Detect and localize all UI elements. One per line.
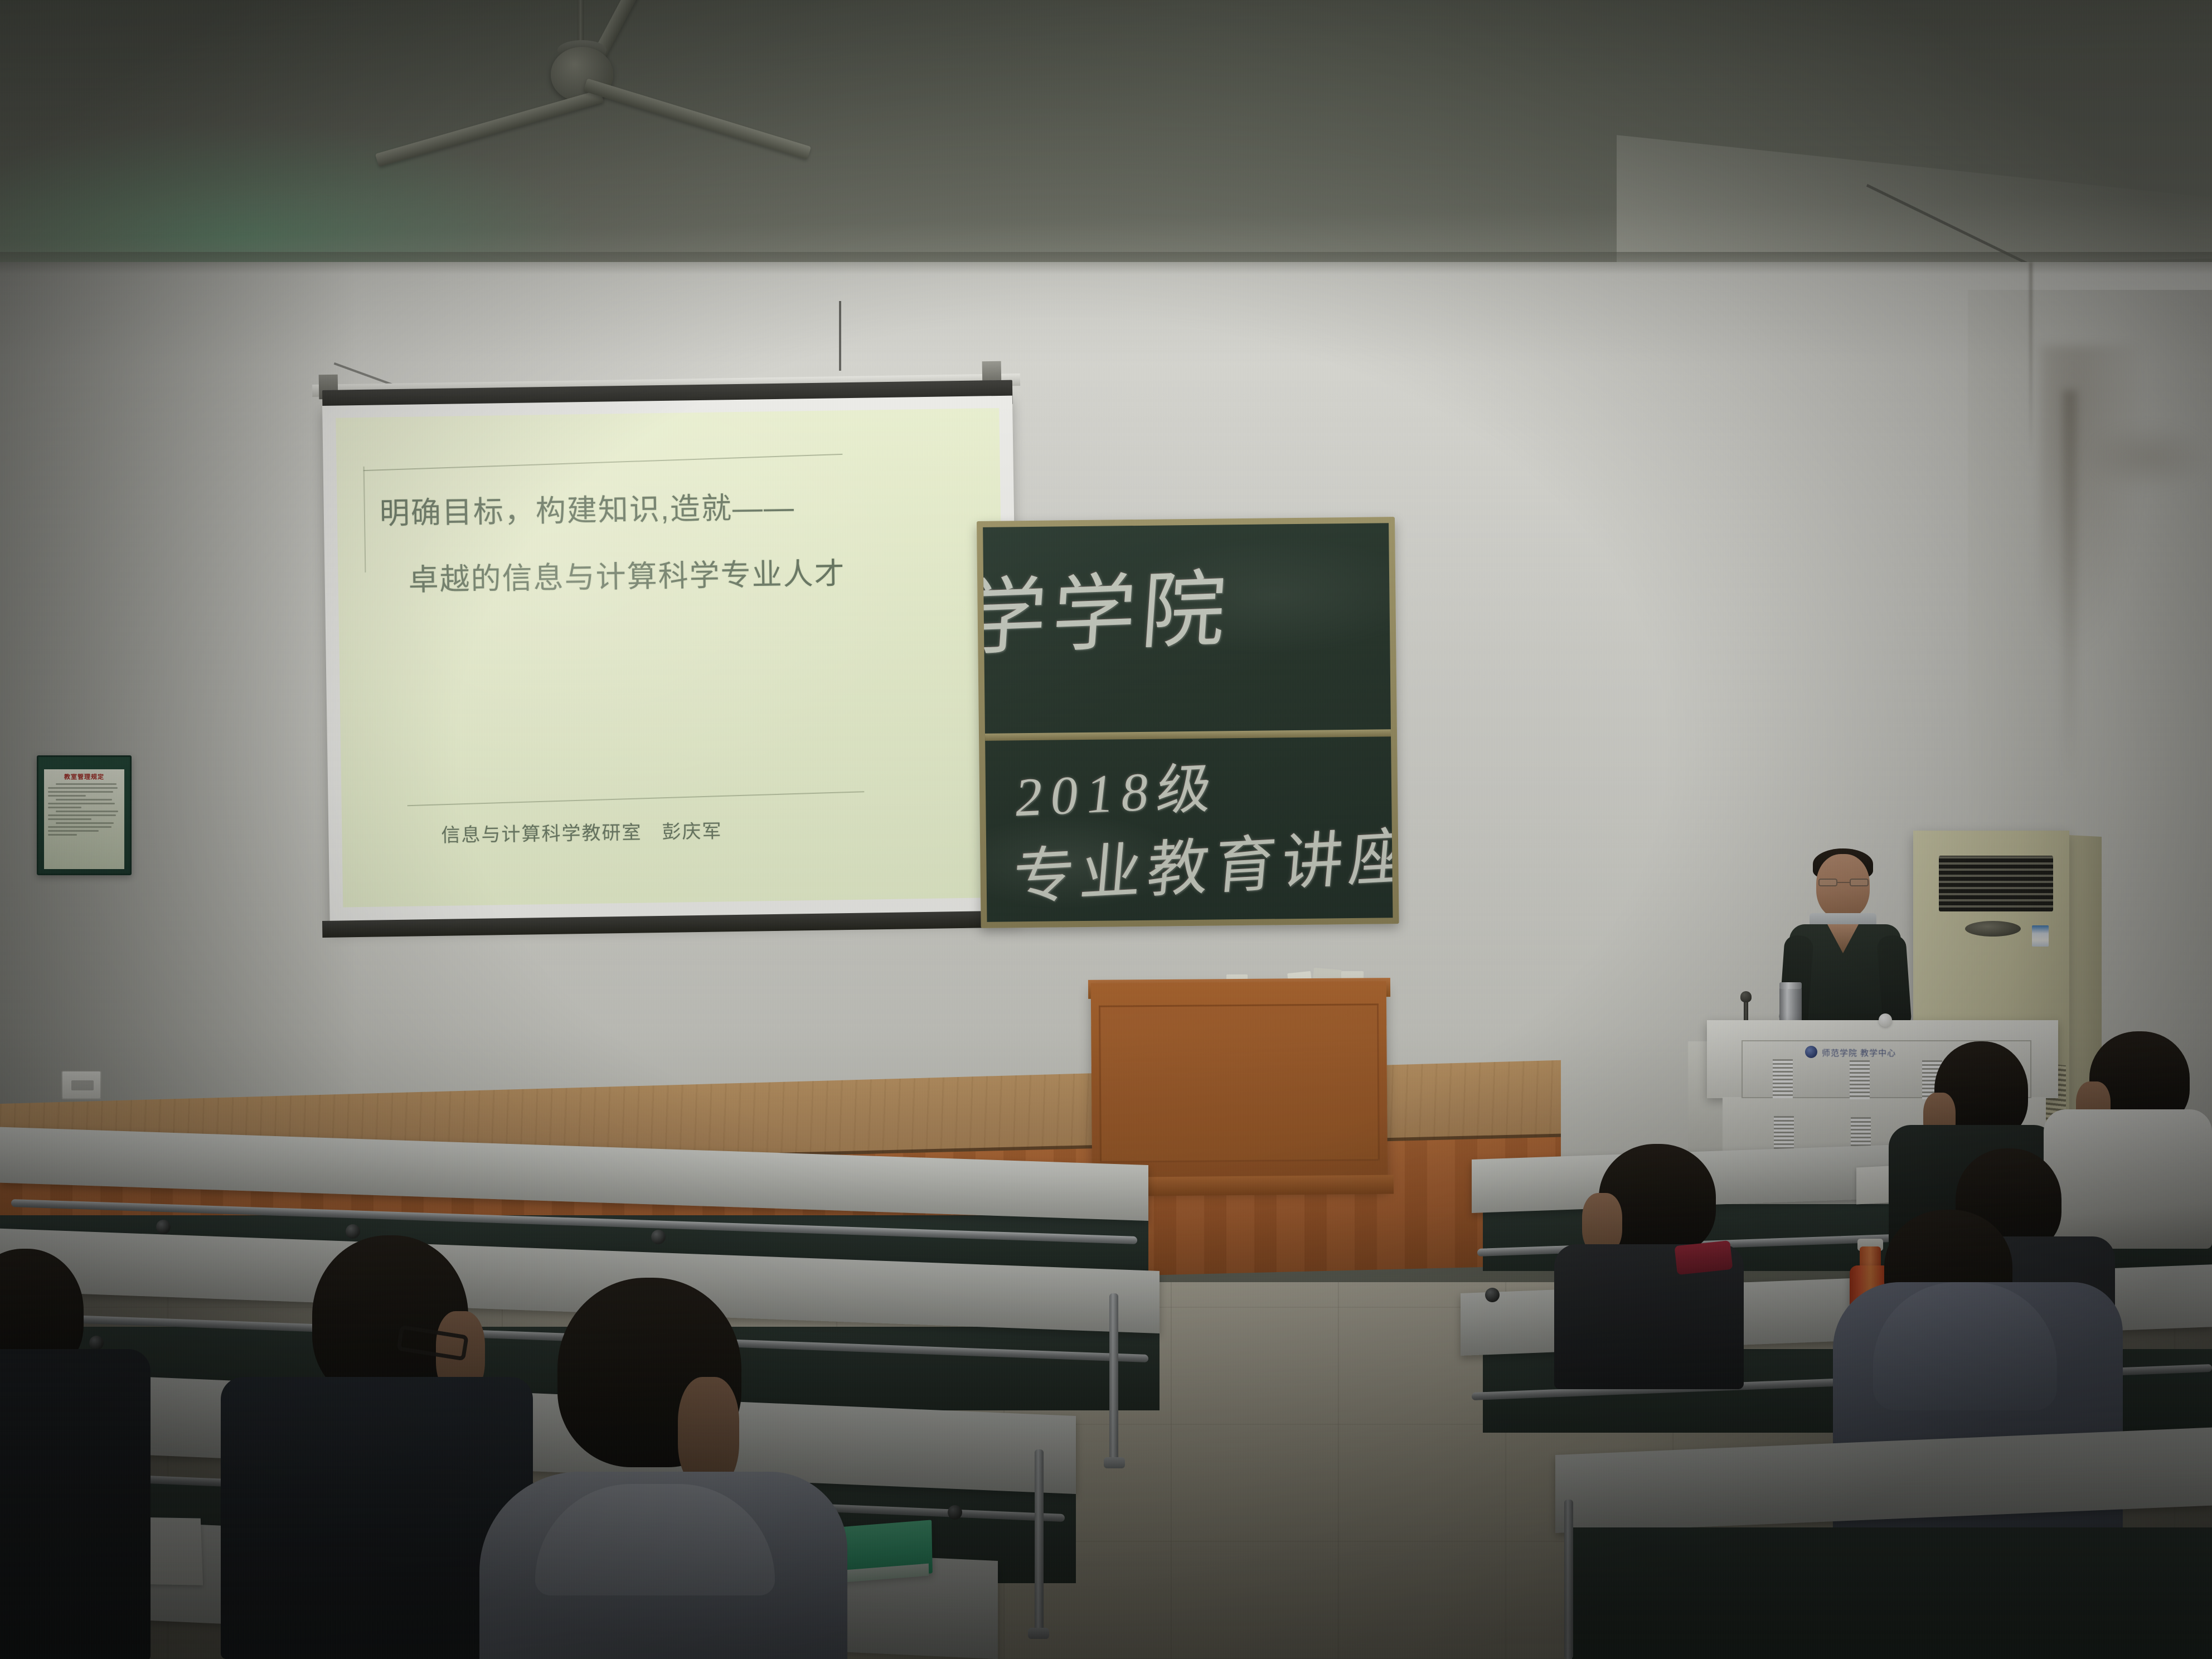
wall-stain [2063, 390, 2077, 780]
notice-body [48, 783, 120, 836]
student-torso-white [2044, 1109, 2212, 1249]
console-vent [1773, 1059, 1793, 1098]
desk-leg [1564, 1500, 1573, 1659]
blackboard-lower-panel: 2018级 专业教育讲座 [985, 736, 1393, 922]
thermos-cap [1779, 982, 1802, 989]
classroom-photo: 教室管理规定 明确目标，构建知识,造就—— 卓越的信息与计算科学专业人才 信息与… [0, 0, 2212, 1659]
blackboard: 学学院 2018级 专业教育讲座 [977, 517, 1399, 928]
air-conditioner-sticker [2032, 925, 2049, 947]
university-logo-icon [1805, 1046, 1817, 1058]
desk-hook [651, 1230, 666, 1244]
slide-rule [363, 467, 366, 573]
glasses-lens-left [1818, 879, 1837, 886]
slide-rule [363, 454, 843, 471]
screen-wire [839, 301, 841, 371]
slide-rule [408, 791, 865, 806]
student-torso [0, 1349, 151, 1659]
desk-foot [1104, 1457, 1125, 1468]
presenter-head [1816, 854, 1870, 919]
ceiling-fan-icon [424, 0, 736, 134]
air-conditioner-vent [1965, 921, 2021, 937]
console-brand-text: 师范学院 教学中心 [1822, 1047, 1896, 1059]
desk-leg [1109, 1293, 1118, 1461]
projection-screen: 明确目标，构建知识,造就—— 卓越的信息与计算科学专业人才 信息与计算科学教研室… [322, 396, 1020, 930]
desk-hook [346, 1224, 360, 1239]
wooden-lectern [1091, 981, 1388, 1190]
glasses-lens-right [1850, 879, 1869, 886]
desk-hook [948, 1505, 962, 1520]
power-outlet [61, 1070, 101, 1099]
control-knob[interactable] [1879, 1013, 1892, 1027]
wall-stain [2085, 424, 2212, 491]
notice-board: 教室管理规定 [37, 755, 132, 875]
wall-stain [2040, 346, 2146, 658]
microphone-icon [1740, 991, 1752, 1002]
desk-foot [1028, 1628, 1049, 1639]
wall-crack [2029, 262, 2032, 457]
air-conditioner-grille [1939, 856, 2053, 911]
wall-shadow [0, 262, 357, 1232]
console-vent [1850, 1060, 1870, 1099]
desk-hook [89, 1336, 104, 1350]
presenter-glasses [1818, 879, 1869, 886]
notice-paper: 教室管理规定 [44, 769, 124, 869]
desk-hook [156, 1220, 171, 1234]
blackboard-surface: 学学院 2018级 专业教育讲座 [983, 523, 1393, 922]
slide-author: 信息与计算科学教研室 彭庆军 [441, 816, 722, 847]
student-red-collar [1675, 1240, 1733, 1275]
blackboard-upper-panel: 学学院 [983, 523, 1391, 734]
glasses-bridge [1837, 882, 1850, 883]
desk-hook [1485, 1288, 1500, 1302]
notice-title: 教室管理规定 [48, 774, 120, 780]
lectern-panel [1099, 1003, 1380, 1162]
desk-back-panel [1572, 1527, 2212, 1659]
blackboard-text-line-1: 学学院 [983, 541, 1235, 672]
slide-title-line-1: 明确目标，构建知识,造就—— [379, 482, 795, 532]
projected-slide: 明确目标，构建知识,造就—— 卓越的信息与计算科学专业人才 信息与计算科学教研室… [336, 408, 1006, 908]
slide-title-line-2: 卓越的信息与计算科学专业人才 [408, 549, 846, 599]
desk-leg [1035, 1449, 1044, 1633]
